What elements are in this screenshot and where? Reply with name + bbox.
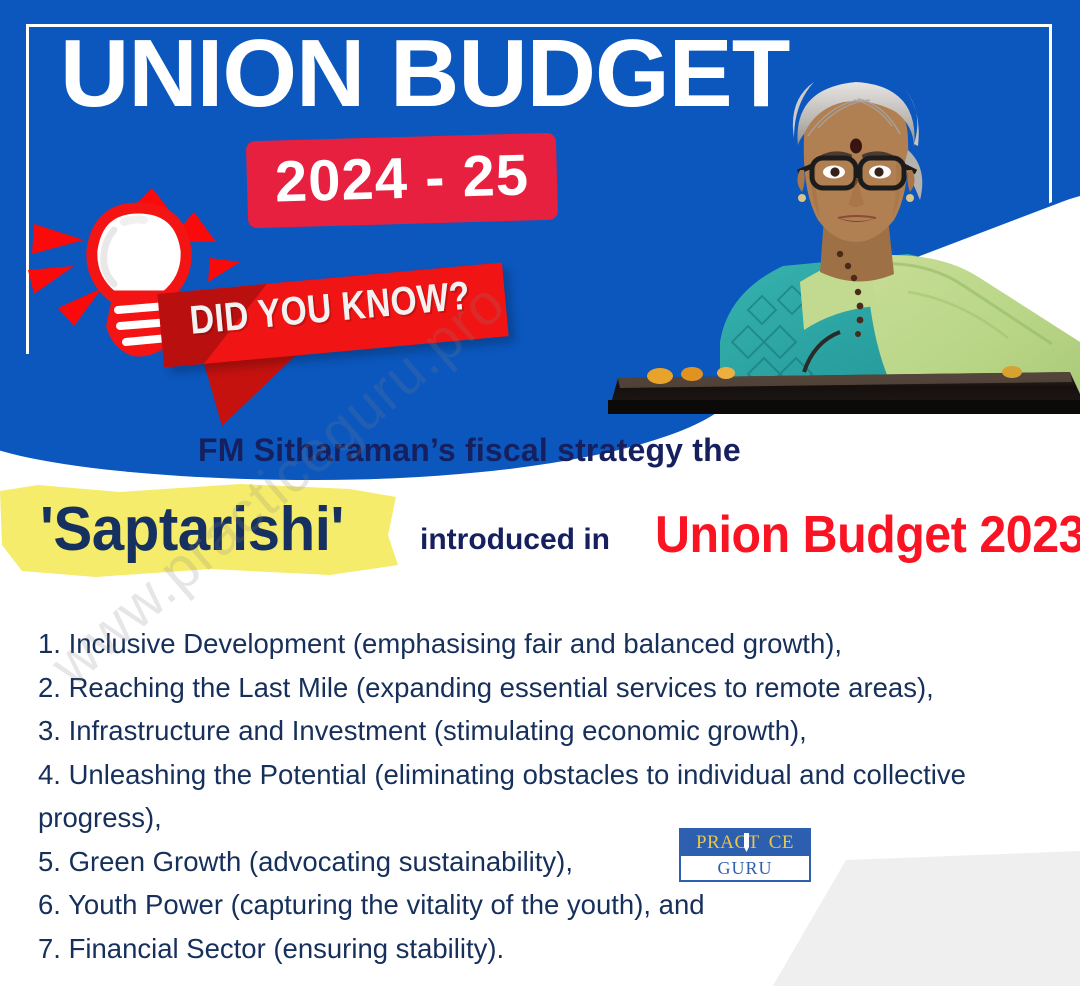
saptarishi-priorities-list: 1. Inclusive Development (emphasising fa… — [38, 622, 988, 970]
list-item: 3. Infrastructure and Investment (stimul… — [38, 709, 988, 753]
infographic-poster: UNION BUDGET 2024 - 25 — [0, 0, 1080, 986]
headline-line: FM Sitharaman’s fiscal strategy the — [198, 432, 741, 469]
list-item: 7. Financial Sector (ensuring stability)… — [38, 927, 988, 971]
list-item: 6. Youth Power (capturing the vitality o… — [38, 883, 988, 927]
logo-text-right: CE — [769, 832, 794, 854]
page-title: UNION BUDGET — [60, 26, 820, 122]
list-item: 1. Inclusive Development (emphasising fa… — [38, 622, 988, 666]
introduced-in-label: introduced in — [420, 523, 610, 557]
list-item: 2. Reaching the Last Mile (expanding ess… — [38, 666, 938, 710]
list-item: 5. Green Growth (advocating sustainabili… — [38, 840, 988, 884]
union-budget-2023-reference: Union Budget 2023 — [655, 505, 1080, 565]
logo-text-left: PRACT — [696, 832, 760, 854]
practice-guru-logo: PRACT CE GURU — [679, 828, 811, 882]
logo-bottom-row: GURU — [681, 856, 809, 880]
fiscal-year-badge: 2024 - 25 — [246, 133, 558, 229]
logo-top-row: PRACT CE — [681, 830, 809, 856]
saptarishi-keyword: 'Saptarishi' — [40, 494, 344, 565]
list-item: 4. Unleashing the Potential (eliminating… — [38, 753, 968, 840]
